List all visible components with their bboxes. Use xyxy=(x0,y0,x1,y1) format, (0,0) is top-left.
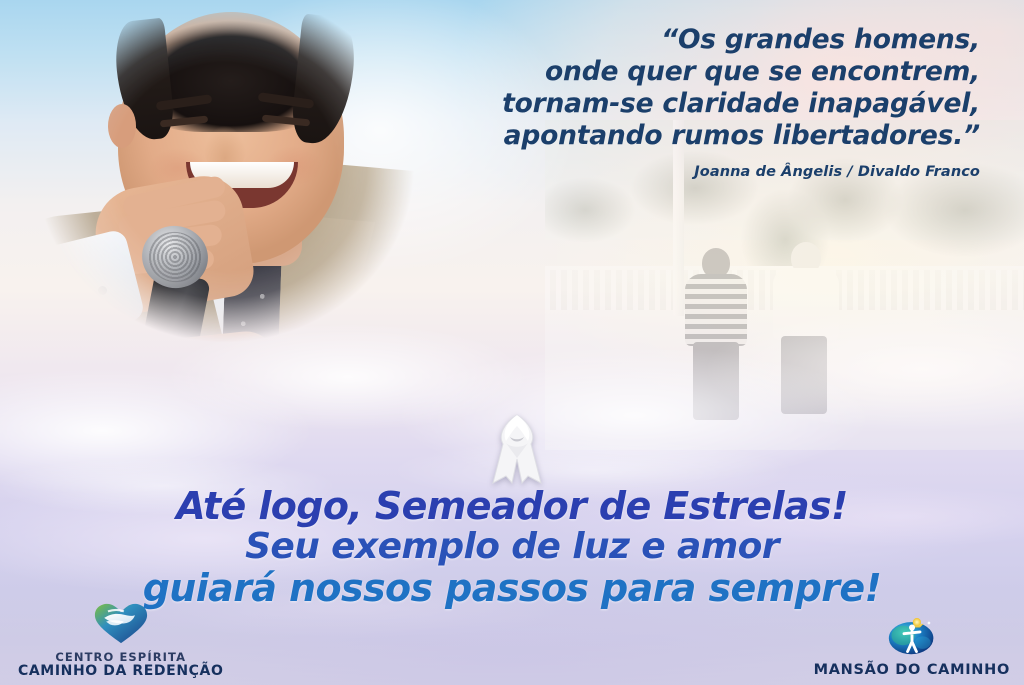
quote-line-3: tornam-se claridade inapagável, xyxy=(380,88,980,120)
logo-left-text: CENTRO ESPÍRITA CAMINHO DA REDENÇÃO xyxy=(18,651,223,679)
headline-line-1: Até logo, Semeador de Estrelas! xyxy=(0,486,1024,527)
portrait-hair-right xyxy=(289,13,358,146)
heart-with-hand-icon xyxy=(93,603,149,649)
portrait-cuff-button xyxy=(98,286,107,295)
logo-mansao-do-caminho[interactable]: MANSÃO DO CAMINHO xyxy=(814,615,1010,679)
quote-author: Joanna de Ângelis / Divaldo Franco xyxy=(380,164,980,180)
headline-line-2: Seu exemplo de luz e amor xyxy=(0,527,1024,567)
poster-canvas: “Os grandes homens, onde quer que se enc… xyxy=(0,0,1024,685)
white-ribbon-icon xyxy=(486,413,548,485)
quote-line-1: “Os grandes homens, xyxy=(380,24,980,56)
logo-centro-espirita-caminho-da-redencao[interactable]: CENTRO ESPÍRITA CAMINHO DA REDENÇÃO xyxy=(18,603,223,679)
quote-block: “Os grandes homens, onde quer que se enc… xyxy=(380,24,980,180)
headline-block: Até logo, Semeador de Estrelas! Seu exem… xyxy=(0,486,1024,609)
quote-line-2: onde quer que se encontrem, xyxy=(380,56,980,88)
globe-with-figure-and-star-icon xyxy=(887,615,937,661)
quote-line-4: apontando rumos libertadores.” xyxy=(380,120,980,152)
logo-right-line-2: MANSÃO DO CAMINHO xyxy=(814,663,1010,679)
logo-right-text: MANSÃO DO CAMINHO xyxy=(814,663,1010,679)
logo-left-line-2: CAMINHO DA REDENÇÃO xyxy=(18,664,223,679)
portrait-ear xyxy=(108,104,136,148)
